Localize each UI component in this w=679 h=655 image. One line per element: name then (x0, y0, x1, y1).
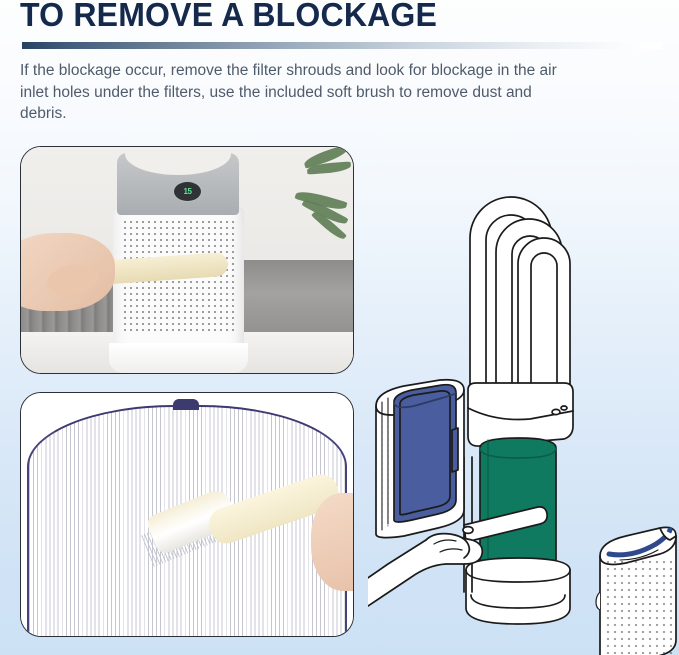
photo-panel-brushing-purifier-vents: 15 (20, 146, 354, 374)
base (466, 558, 570, 624)
photo-brushing-pleated-filter (21, 393, 353, 636)
carbon-filter-shroud-left (376, 380, 464, 538)
potted-plant (273, 151, 351, 251)
photo-panel-brushing-pleated-filter (20, 392, 354, 637)
filter-top-nub (173, 399, 199, 410)
air-purifier-base (109, 343, 248, 373)
page-title: TO REMOVE A BLOCKAGE (20, 0, 437, 34)
display-screen: 15 (173, 181, 202, 202)
photo-brushing-purifier-vents: 15 (21, 147, 353, 373)
perforated-shroud-right (596, 527, 676, 655)
tower-purifier-exploded-diagram (368, 140, 679, 655)
motor-housing (468, 383, 573, 446)
instruction-paragraph: If the blockage occur, remove the filter… (20, 60, 580, 125)
infographic-page: TO REMOVE A BLOCKAGE If the blockage occ… (0, 0, 679, 655)
title-divider (22, 42, 662, 49)
